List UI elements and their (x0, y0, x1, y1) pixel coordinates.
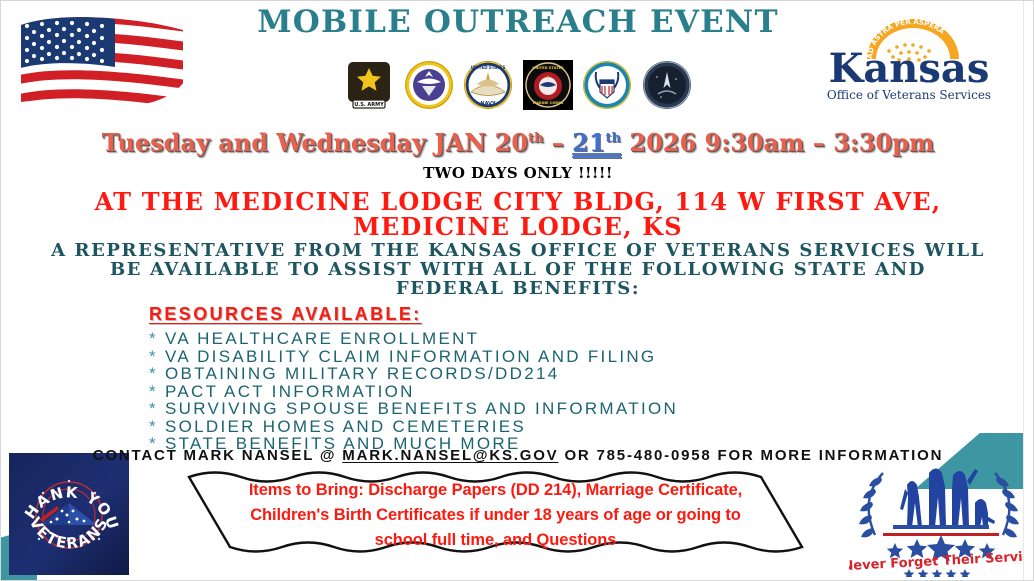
thank-you-veterans-badge: THANK YOU VETERANS (9, 453, 129, 575)
list-item: *VA DISABILITY CLAIM INFORMATION AND FIL… (149, 348, 869, 366)
marine-corps-seal: UNITED STATES MARINE CORPS (523, 60, 573, 110)
list-item-label: VA DISABILITY CLAIM INFORMATION AND FILI… (165, 347, 656, 366)
list-item: *SURVIVING SPOUSE BENEFITS AND INFORMATI… (149, 400, 869, 418)
date-misspelled-day: 21th (572, 128, 621, 157)
never-forget-their-service-emblem: Never Forget Their Service (849, 459, 1029, 577)
military-branch-seals: U.S. ARMY UNITED STATES NAVY (344, 59, 692, 111)
date-day-number: 21 (572, 128, 605, 157)
date-prefix: Tuesday and Wednesday JAN 20 (102, 128, 528, 157)
space-force-seal (642, 60, 692, 110)
kansas-office-of-veterans-services-logo: AD ASTRA PER ASPERA Kansas Office of Vet… (819, 19, 999, 105)
svg-text:MARINE CORPS: MARINE CORPS (532, 101, 563, 105)
contact-prefix: CONTACT MARK NANSEL @ (93, 447, 343, 464)
contact-email-link[interactable]: MARK.NANSEL@KS.GOV (342, 447, 558, 464)
list-item-label: SURVIVING SPOUSE BENEFITS AND INFORMATIO… (165, 399, 678, 418)
date-dash: – (543, 128, 572, 157)
kansas-wordmark: Kansas (829, 45, 990, 92)
date-ordinal-2: th (606, 131, 621, 146)
list-item: *VA HEALTHCARE ENROLLMENT (149, 330, 869, 348)
list-item: *OBTAINING MILITARY RECORDS/DD214 (149, 365, 869, 383)
bring-line-1: Items to Bring: Discharge Papers (DD 214… (205, 478, 786, 503)
air-force-seal (404, 60, 454, 110)
bullet-star-icon: * (149, 330, 165, 348)
list-item-label: SOLDIER HOMES AND CEMETERIES (165, 417, 526, 436)
resources-list: *VA HEALTHCARE ENROLLMENT *VA DISABILITY… (149, 330, 869, 453)
svg-text:UNITED STATES: UNITED STATES (471, 65, 506, 70)
contact-line: CONTACT MARK NANSEL @ MARK.NANSEL@KS.GOV… (1, 447, 1034, 464)
bullet-star-icon: * (149, 348, 165, 366)
bullet-star-icon: * (149, 400, 165, 418)
resources-heading: RESOURCES AVAILABLE: (149, 304, 422, 325)
svg-text:NAVY: NAVY (481, 101, 497, 107)
navy-seal: UNITED STATES NAVY (463, 60, 513, 110)
bullet-star-icon: * (149, 383, 165, 401)
list-item: *PACT ACT INFORMATION (149, 383, 869, 401)
kansas-subtitle: Office of Veterans Services (827, 88, 991, 102)
army-seal: U.S. ARMY (344, 60, 394, 110)
coast-guard-seal (582, 60, 632, 110)
bullet-star-icon: * (149, 365, 165, 383)
two-days-only-note: TWO DAYS ONLY !!!!! (1, 164, 1034, 182)
right-edge-margin (1023, 1, 1033, 581)
event-address: AT THE MEDICINE LODGE CITY BLDG, 114 W F… (1, 189, 1034, 239)
list-item-label: PACT ACT INFORMATION (165, 382, 415, 401)
flyer-canvas: MOBILE OUTREACH EVENT U.S. ARMY UNITED S… (0, 0, 1034, 581)
bring-line-3: school full time, and Questions (205, 528, 786, 553)
bullet-star-icon: * (149, 418, 165, 436)
svg-text:UNITED STATES: UNITED STATES (532, 66, 564, 70)
items-to-bring-text: Items to Bring: Discharge Papers (DD 214… (205, 478, 786, 553)
items-to-bring-box: Items to Bring: Discharge Papers (DD 214… (183, 469, 808, 555)
list-item: *SOLDIER HOMES AND CEMETERIES (149, 418, 869, 436)
bring-line-2: Children's Birth Certificates if under 1… (205, 503, 786, 528)
rep-line-3: FEDERAL BENEFITS: (1, 279, 1034, 298)
svg-text:U.S. ARMY: U.S. ARMY (354, 102, 384, 108)
date-suffix: 2026 9:30am – 3:30pm (621, 128, 934, 157)
rep-line-1: A REPRESENTATIVE FROM THE KANSAS OFFICE … (1, 241, 1034, 260)
rep-line-2: BE AVAILABLE TO ASSIST WITH ALL OF THE F… (1, 260, 1034, 279)
list-item-label: VA HEALTHCARE ENROLLMENT (165, 329, 479, 348)
address-line-2: MEDICINE LODGE, KS (1, 214, 1034, 239)
event-date-line: Tuesday and Wednesday JAN 20th – 21th 20… (1, 128, 1034, 157)
representative-paragraph: A REPRESENTATIVE FROM THE KANSAS OFFICE … (1, 241, 1034, 298)
date-ordinal-1: th (528, 131, 543, 146)
address-line-1: AT THE MEDICINE LODGE CITY BLDG, 114 W F… (1, 189, 1034, 214)
contact-suffix: OR 785-480-0958 FOR MORE INFORMATION (558, 447, 943, 464)
list-item-label: OBTAINING MILITARY RECORDS/DD214 (165, 364, 559, 383)
